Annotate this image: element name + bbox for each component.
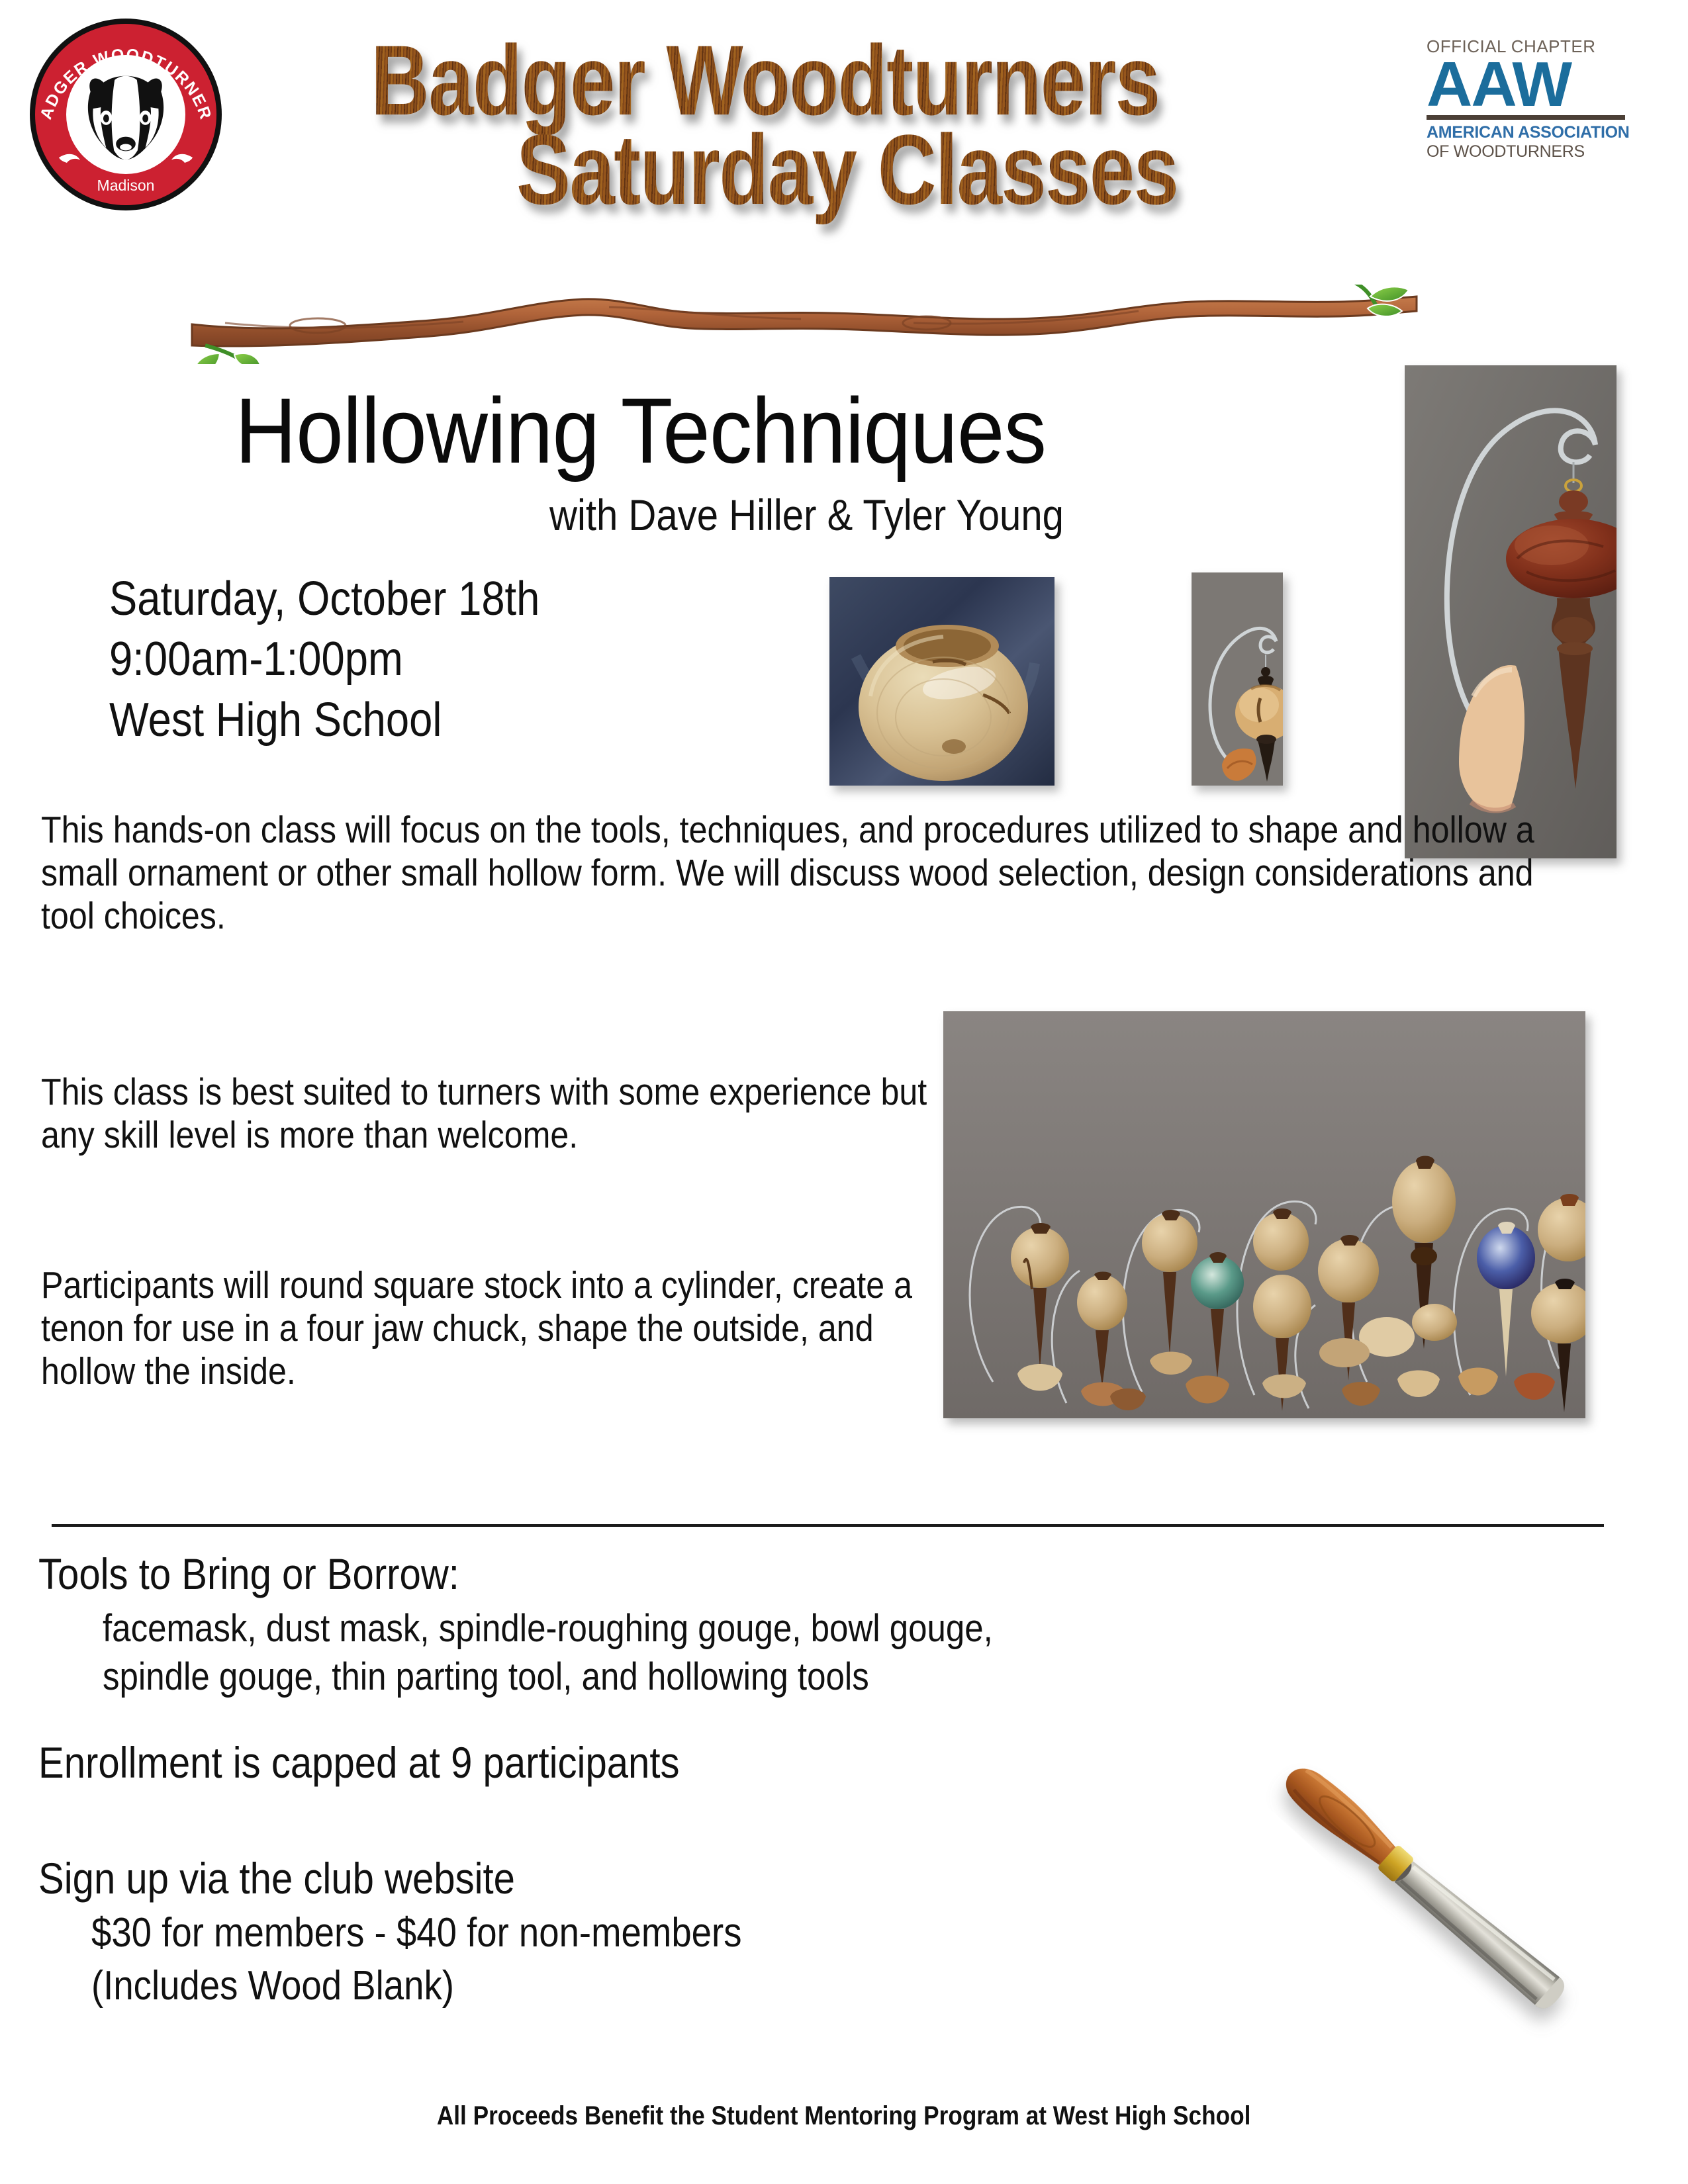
logo-tool-flourish-icon — [55, 148, 197, 171]
description-paragraph-3: Participants will round square stock int… — [41, 1264, 932, 1393]
hollow-form-photo — [829, 577, 1055, 786]
class-date: Saturday, October 18th — [109, 569, 539, 629]
tools-list: facemask, dust mask, spindle-roughing go… — [103, 1605, 993, 1701]
aaw-acronym: AAW — [1427, 57, 1625, 113]
tools-heading: Tools to Bring or Borrow: — [38, 1549, 459, 1599]
aaw-name-line2: OF WOODTURNERS — [1427, 142, 1625, 161]
class-location: West High School — [109, 690, 539, 751]
large-ornament-photo — [1405, 365, 1617, 858]
ornament-collection-photo — [943, 1011, 1585, 1418]
section-divider — [52, 1524, 1604, 1527]
signup-note: (Includes Wood Blank) — [91, 1962, 454, 2009]
signup-heading: Sign up via the club website — [38, 1853, 515, 1903]
aaw-official-chapter-logo: OFFICIAL CHAPTER AAW AMERICAN ASSOCIATIO… — [1427, 36, 1625, 161]
bowl-gouge-photo — [1125, 1648, 1655, 2058]
footer-note-text: All Proceeds Benefit the Student Mentori… — [437, 2101, 1251, 2131]
page-title: Hollowing Techniques — [235, 377, 1046, 484]
tools-list-line2: spindle gouge, thin parting tool, and ho… — [103, 1653, 993, 1702]
class-details-block: Saturday, October 18th 9:00am-1:00pm Wes… — [109, 569, 539, 751]
badger-woodturners-logo: BADGER WOODTURNERS Madison — [30, 19, 222, 210]
tools-list-line1: facemask, dust mask, spindle-roughing go… — [103, 1605, 993, 1653]
enrollment-capacity-text: Enrollment is capped at 9 participants — [38, 1737, 680, 1788]
description-paragraph-1: This hands-on class will focus on the to… — [41, 809, 1544, 938]
signup-price: $30 for members - $40 for non-members — [91, 1909, 741, 1956]
description-paragraph-2: This class is best suited to turners wit… — [41, 1071, 932, 1157]
class-time: 9:00am-1:00pm — [109, 629, 539, 690]
banner-title-line2: Saturday Classes — [516, 113, 1178, 227]
footer-note: All Proceeds Benefit the Student Mentori… — [0, 2101, 1688, 2131]
small-ornament-photo — [1192, 572, 1283, 786]
aaw-name-line1: AMERICAN ASSOCIATION — [1427, 123, 1625, 142]
logo-city-label: Madison — [30, 177, 222, 195]
wood-branch-decor — [185, 285, 1423, 364]
class-presenters: with Dave Hiller & Tyler Young — [549, 490, 1064, 540]
